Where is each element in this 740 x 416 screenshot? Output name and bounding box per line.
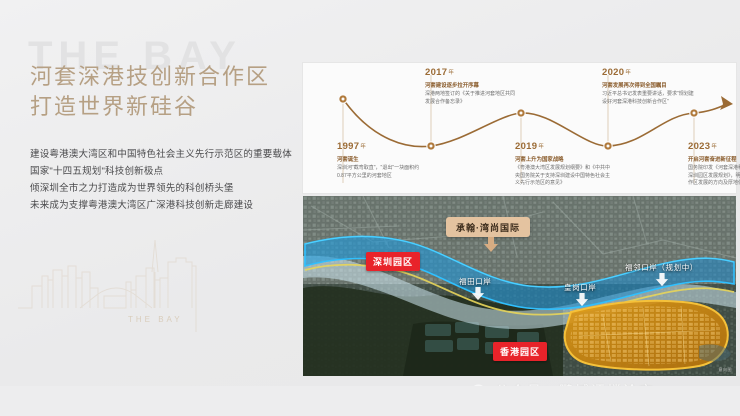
subtitle-line: 建设粤港澳大湾区和中国特色社会主义先行示范区的重要载体 bbox=[30, 146, 292, 163]
timeline-body: 习近平总书记发表重要讲话，要求"规划建设好河套深港科技创新合作区" bbox=[602, 91, 694, 106]
bottom-bar bbox=[0, 386, 740, 416]
subtitle-line: 国家"十四五规划"科技创新极点 bbox=[30, 163, 292, 180]
left-panel: THE BAY 河套深港技创新合作区 打造世界新硅谷 建设粤港澳大湾区和中国特色… bbox=[0, 0, 300, 416]
timeline-year-suffix: 年 bbox=[360, 144, 366, 150]
page-title-line-1: 河套深港技创新合作区 bbox=[30, 62, 270, 92]
subtitle-list: 建设粤港澳大湾区和中国特色社会主义先行示范区的重要载体 国家"十四五规划"科技创… bbox=[30, 146, 292, 214]
subtitle-line: 未来成为支撑粤港澳大湾区广深港科技创新走廊建设 bbox=[30, 197, 292, 214]
timeline-year: 2017年 bbox=[425, 67, 519, 79]
timeline-body: 深港两地签订的《关于推进河套地区共同发展合作备忘录》 bbox=[425, 91, 519, 106]
timeline-year-value: 2023 bbox=[688, 141, 710, 152]
aerial-map[interactable]: 承翰·湾尚国际 深圳园区 香港园区 福田口岸 皇岗口岸 福邻口岸（规划中） 意向… bbox=[303, 196, 736, 376]
slide-canvas: THE BAY 河套深港技创新合作区 打造世界新硅谷 建设粤港澳大湾区和中国特色… bbox=[0, 0, 740, 416]
city-skyline-icon bbox=[18, 236, 238, 351]
timeline-year: 2020年 bbox=[602, 67, 694, 79]
timeline-headline: 河套上升为国家战略 bbox=[515, 156, 611, 164]
timeline-year-suffix: 年 bbox=[625, 70, 631, 76]
subtitle-line: 倾深圳全市之力打造成为世界领先的科创桥头堡 bbox=[30, 180, 292, 197]
map-credit-note: 意向图 bbox=[719, 367, 733, 373]
timeline-entry-2017[interactable]: 2017年 河套建设逐步拉开序幕 深港两地签订的《关于推进河套地区共同发展合作备… bbox=[425, 67, 519, 106]
timeline-card: 1997年 河套诞生 深圳河"截弯取直"，"退出"一块面积约0.87平方公里的河… bbox=[303, 63, 736, 193]
project-badge[interactable]: 承翰·湾尚国际 bbox=[446, 217, 530, 237]
timeline-year-value: 1997 bbox=[337, 141, 359, 152]
timeline-year-value: 2020 bbox=[602, 67, 624, 78]
project-pointer-arrow-icon bbox=[483, 237, 499, 253]
timeline-year-value: 2019 bbox=[515, 141, 537, 152]
timeline-headline: 开启河套奋进新征程 bbox=[688, 156, 740, 164]
skyline-label: THE BAY bbox=[128, 315, 183, 324]
timeline-body: 《粤港澳大湾区发展规划纲要》和《中共中央国务院关于支持深圳建设中国特色社会主义先… bbox=[515, 165, 611, 188]
timeline-year-suffix: 年 bbox=[448, 70, 454, 76]
timeline-year-suffix: 年 bbox=[538, 144, 544, 150]
zone-badge-hongkong[interactable]: 香港园区 bbox=[493, 342, 547, 361]
timeline-entry-2020[interactable]: 2020年 河套发展再次得到全国瞩目 习近平总书记发表重要讲话，要求"规划建设好… bbox=[602, 67, 694, 106]
port-arrow-fulin-icon bbox=[655, 272, 669, 288]
timeline-entry-2023[interactable]: 2023年 开启河套奋进新征程 国务院印发《河套深港科技创新合作区深圳园区发展规… bbox=[688, 141, 740, 188]
timeline-year-value: 2017 bbox=[425, 67, 447, 78]
zone-badge-shenzhen[interactable]: 深圳园区 bbox=[366, 252, 420, 271]
timeline-year: 1997年 bbox=[337, 141, 425, 153]
timeline-year: 2019年 bbox=[515, 141, 611, 153]
timeline-body: 国务院印发《河套深港科技创新合作区深圳园区发展规划》，明确河套深港合作区发展的方… bbox=[688, 165, 740, 188]
timeline-year: 2023年 bbox=[688, 141, 740, 153]
timeline-headline: 河套建设逐步拉开序幕 bbox=[425, 82, 519, 90]
port-arrow-futian-icon bbox=[471, 286, 485, 302]
timeline-year-suffix: 年 bbox=[711, 144, 717, 150]
page-title: 河套深港技创新合作区 打造世界新硅谷 bbox=[30, 62, 270, 122]
page-title-line-2: 打造世界新硅谷 bbox=[30, 92, 270, 122]
timeline-body: 深圳河"截弯取直"，"退出"一块面积约0.87平方公里的河套地区 bbox=[337, 165, 425, 180]
timeline-headline: 河套诞生 bbox=[337, 156, 425, 164]
timeline-headline: 河套发展再次得到全国瞩目 bbox=[602, 82, 694, 90]
timeline-entry-1997[interactable]: 1997年 河套诞生 深圳河"截弯取直"，"退出"一块面积约0.87平方公里的河… bbox=[337, 141, 425, 180]
timeline-entry-2019[interactable]: 2019年 河套上升为国家战略 《粤港澳大湾区发展规划纲要》和《中共中央国务院关… bbox=[515, 141, 611, 188]
port-arrow-huanggang-icon bbox=[575, 292, 589, 308]
